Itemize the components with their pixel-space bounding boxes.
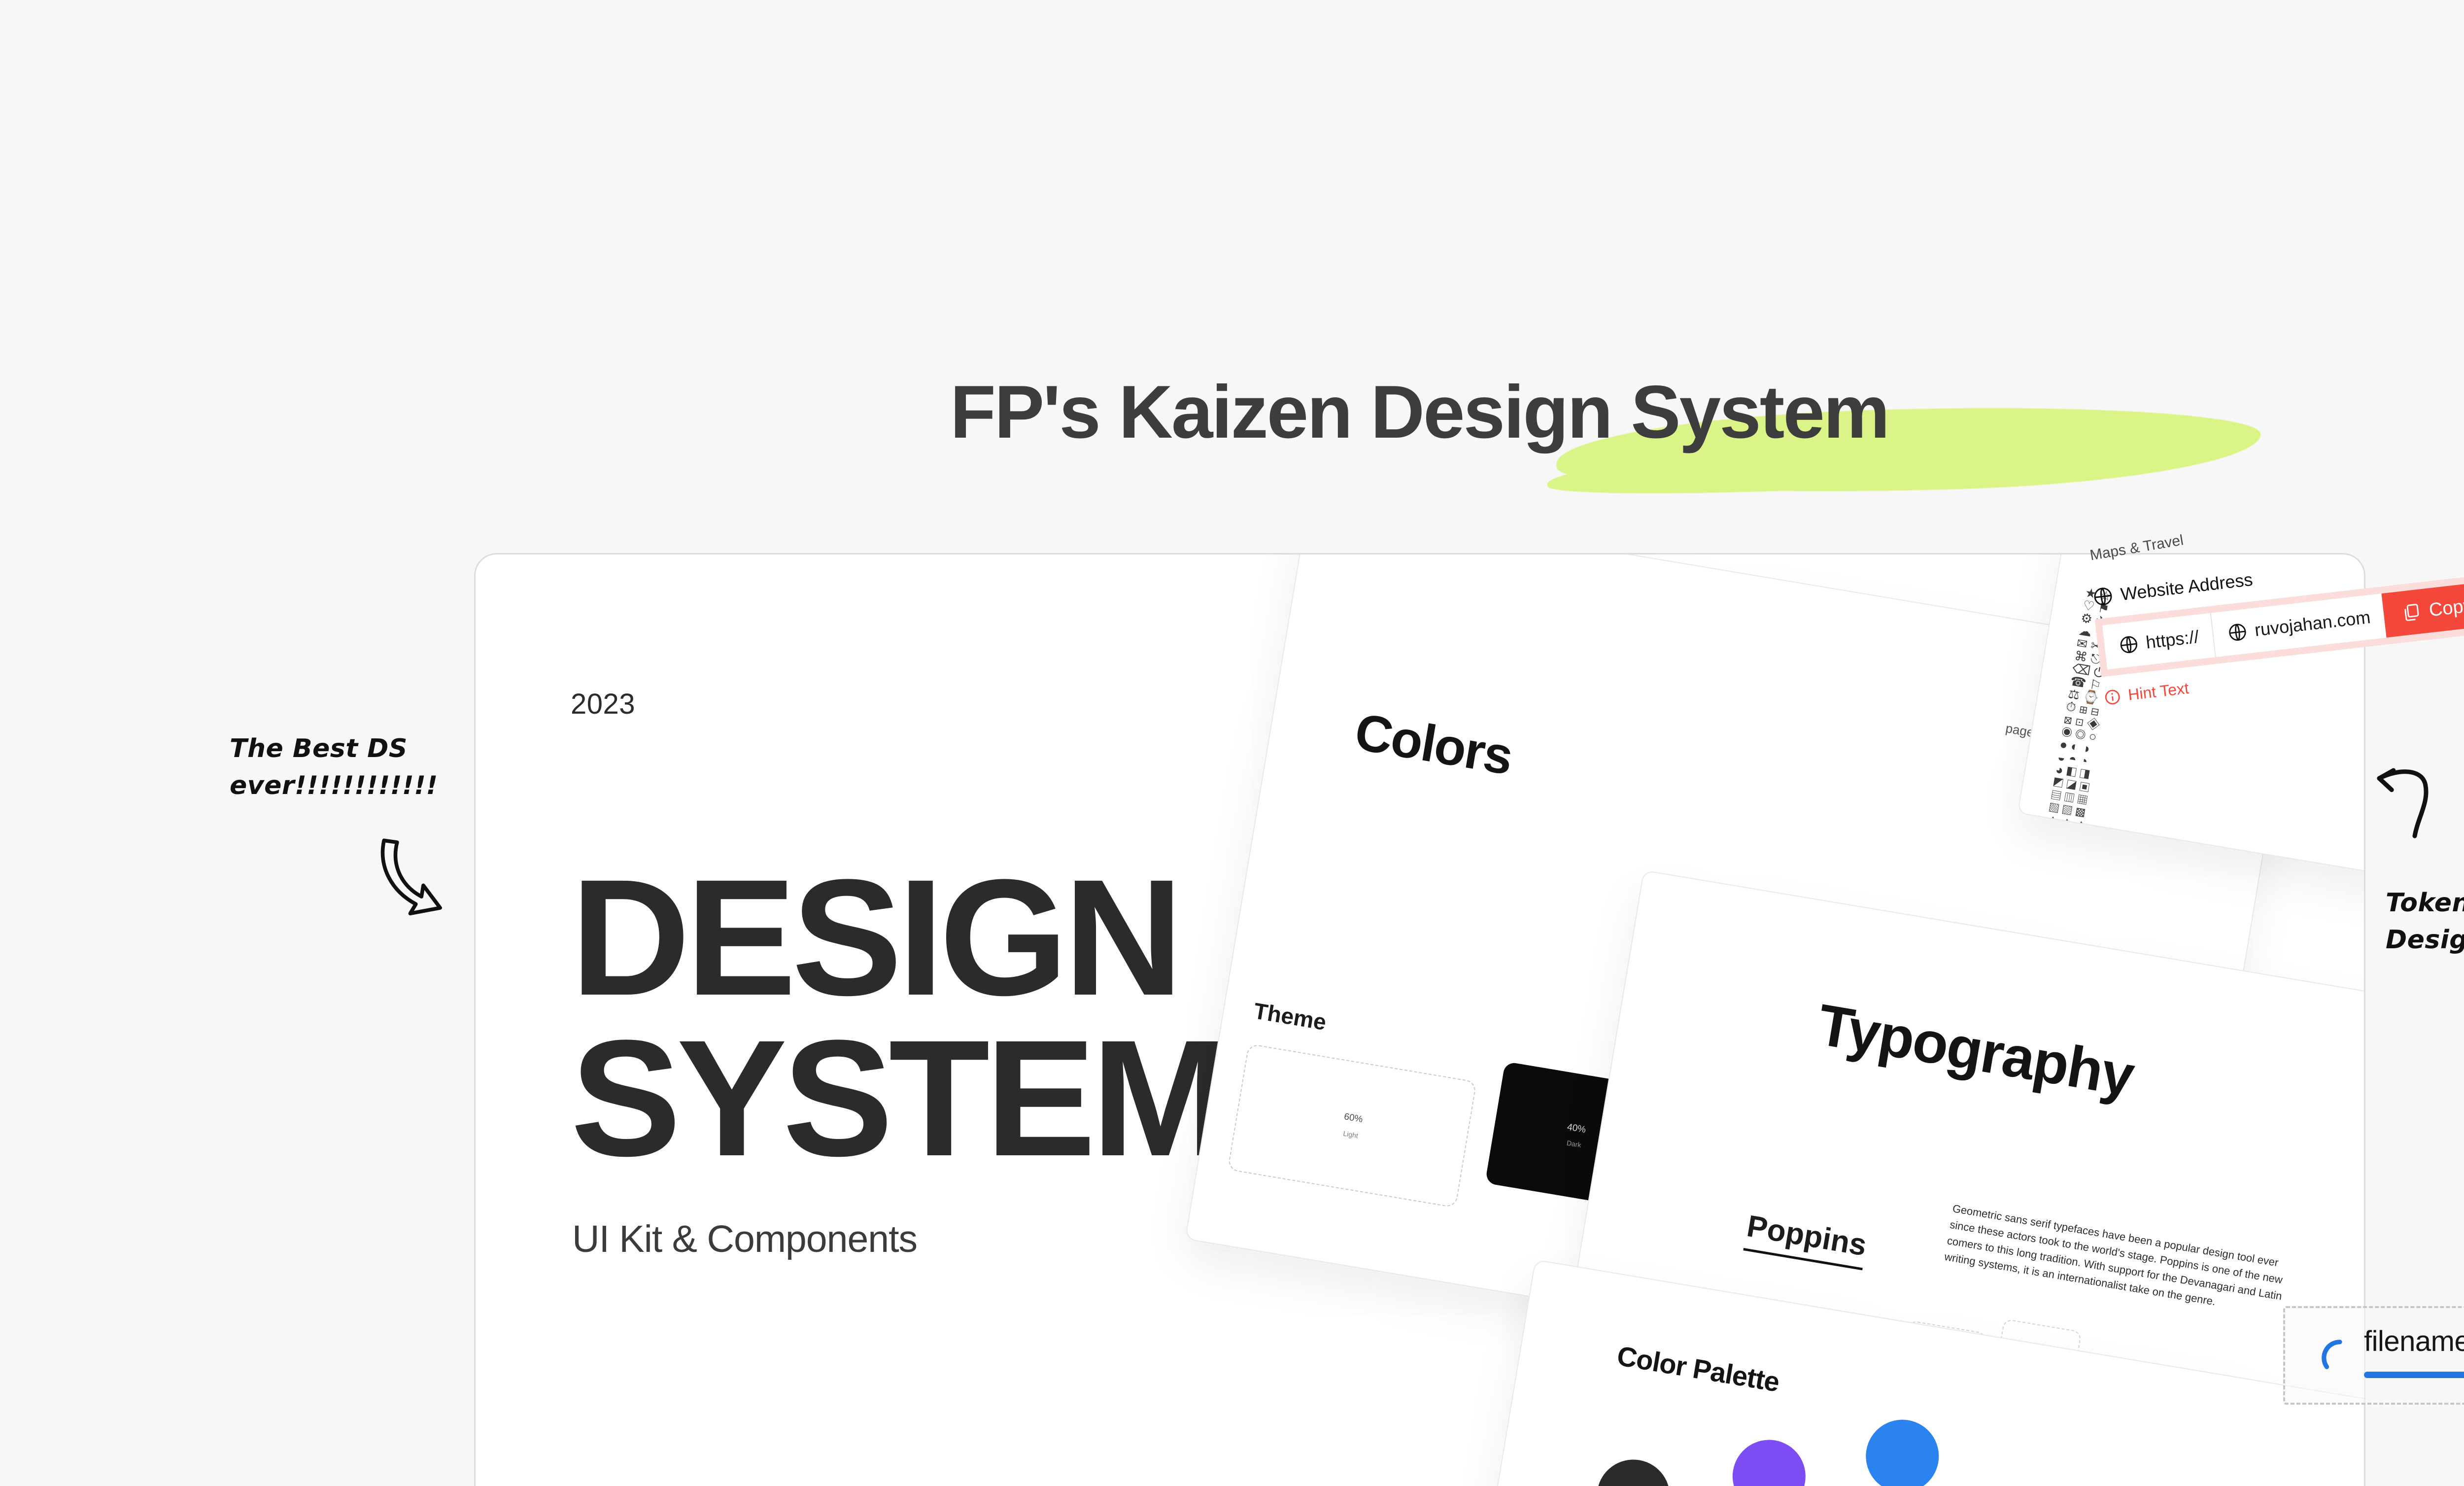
upload-filename: filename.png — [2364, 1325, 2464, 1358]
sheet-palette-title: Color Palette — [1615, 1340, 1782, 1398]
font-name-poppins: Poppins — [1743, 1209, 1869, 1270]
globe-icon — [2226, 621, 2249, 644]
copy-button[interactable]: Copy — [2382, 582, 2464, 638]
domain-value: ruvojahan.com — [2254, 607, 2371, 640]
annotation-right-arrow-icon — [2368, 761, 2462, 853]
theme-light-card[interactable]: 60% Light — [1228, 1043, 1477, 1208]
cover-year: 2023 — [571, 688, 635, 721]
domain-input[interactable]: ruvojahan.com — [2211, 593, 2387, 657]
annotation-left-text: The Best DS ever!!!!!!!!!!!! — [230, 730, 438, 805]
theme-label: Theme — [1252, 997, 1328, 1036]
copy-icon — [2400, 601, 2422, 623]
palette-swatch[interactable]: Gray 500 #2B2B2B — [1586, 1454, 1675, 1486]
globe-icon — [2118, 633, 2140, 656]
info-circle-icon — [2103, 687, 2122, 707]
loading-spinner-icon — [2319, 1337, 2361, 1379]
font-description: Geometric sans serif typefaces have been… — [1943, 1200, 2289, 1320]
design-system-cover-card: 2023 DESIGN SYSTEM UI Kit & Components C… — [474, 553, 2365, 1486]
theme-light-value: 60% — [1343, 1111, 1364, 1125]
palette-swatch[interactable]: Secondary 500 #2B83F0 — [1855, 1414, 1944, 1486]
theme-light-name: Light — [1342, 1129, 1359, 1140]
file-upload-widget[interactable]: filename.png — [2283, 1306, 2464, 1405]
upload-progress-fill — [2364, 1372, 2464, 1378]
copy-button-label: Copy — [2428, 595, 2464, 621]
globe-icon — [2091, 585, 2115, 609]
swatch-color — [1591, 1454, 1675, 1486]
sheet-typography-title: Typography — [1813, 991, 2138, 1110]
cover-subtitle: UI Kit & Components — [572, 1217, 917, 1261]
swatch-color — [1727, 1434, 1811, 1486]
upload-progress-track — [2364, 1372, 2464, 1378]
palette-swatch[interactable]: Primary 500 #7B4DF3 — [1722, 1434, 1811, 1486]
page-title-region: FP's Kaizen Design System — [0, 375, 2464, 483]
annotation-left-arrow-icon — [367, 833, 461, 929]
protocol-value: https:// — [2145, 626, 2200, 653]
protocol-select[interactable]: https:// — [2102, 613, 2216, 670]
annotation-right-text: Tokens, Atomic Sytel Design Sytem. — [2386, 885, 2464, 959]
theme-dark-name: Dark — [1566, 1139, 1582, 1149]
cover-heading: DESIGN SYSTEM — [571, 858, 1225, 1179]
swatch-color — [1860, 1414, 1944, 1486]
theme-dark-value: 40% — [1566, 1122, 1586, 1136]
sheet-colors-title: Colors — [1351, 702, 1516, 787]
page-title: FP's Kaizen Design System — [950, 375, 1888, 449]
